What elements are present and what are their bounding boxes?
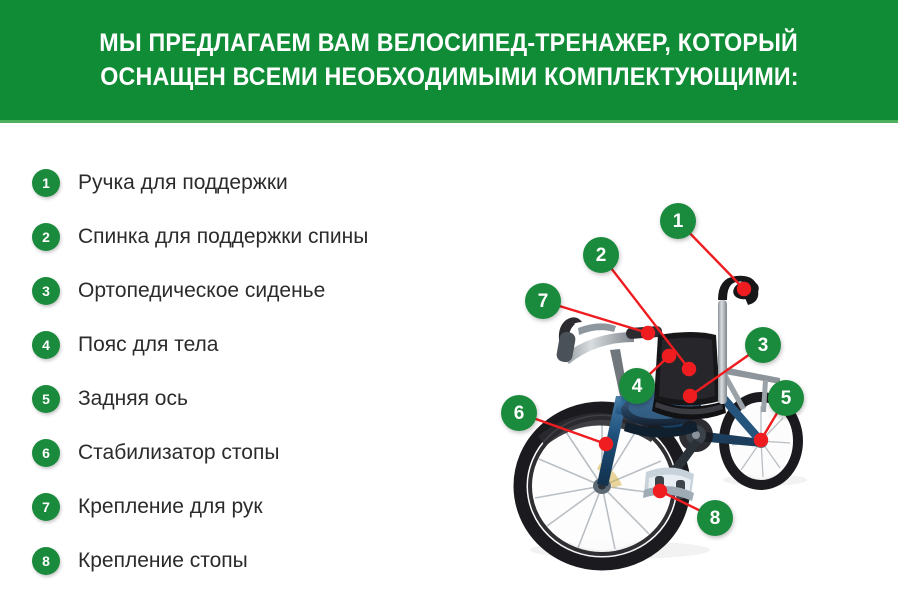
list-item: 3 Ортопедическое сиденье	[32, 264, 452, 318]
feature-badge-2: 2	[32, 223, 60, 251]
feature-badge-4: 4	[32, 331, 60, 359]
list-item: 6 Стабилизатор стопы	[32, 426, 452, 480]
diagram-marker-3[interactable]: 3	[745, 327, 781, 363]
feature-label-8: Крепление стопы	[78, 549, 248, 573]
header-text-block: МЫ ПРЕДЛАГАЕМ ВАМ ВЕЛОСИПЕД-ТРЕНАЖЕР, КО…	[0, 0, 898, 120]
diagram-marker-6[interactable]: 6	[501, 395, 537, 431]
header-line-1: МЫ ПРЕДЛАГАЕМ ВАМ ВЕЛОСИПЕД-ТРЕНАЖЕР, КО…	[100, 27, 799, 59]
feature-label-1: Ручка для поддержки	[78, 171, 288, 195]
list-item: 8 Крепление стопы	[32, 534, 452, 588]
bicycle-diagram: 1 2 3 4 5 6 7 8	[450, 150, 898, 590]
feature-badge-1: 1	[32, 169, 60, 197]
diagram-marker-1[interactable]: 1	[660, 203, 696, 239]
diagram-marker-8[interactable]: 8	[697, 500, 733, 536]
feature-label-3: Ортопедическое сиденье	[78, 279, 325, 303]
feature-label-5: Задняя ось	[78, 387, 188, 411]
list-item: 4 Пояс для тела	[32, 318, 452, 372]
list-item: 1 Ручка для поддержки	[32, 156, 452, 210]
feature-badge-8: 8	[32, 547, 60, 575]
header-line-2: ОСНАЩЕН ВСЕМИ НЕОБХОДИМЫМИ КОМПЛЕКТУЮЩИМ…	[100, 61, 798, 93]
feature-badge-5: 5	[32, 385, 60, 413]
feature-label-7: Крепление для рук	[78, 495, 263, 519]
list-item: 2 Спинка для поддержки спины	[32, 210, 452, 264]
diagram-marker-5[interactable]: 5	[768, 380, 804, 416]
feature-label-2: Спинка для поддержки спины	[78, 225, 368, 249]
diagram-marker-7[interactable]: 7	[525, 283, 561, 319]
header-banner-underline	[0, 120, 898, 123]
diagram-marker-4[interactable]: 4	[619, 368, 655, 404]
list-item: 5 Задняя ось	[32, 372, 452, 426]
feature-badge-7: 7	[32, 493, 60, 521]
feature-label-4: Пояс для тела	[78, 333, 219, 357]
feature-badge-6: 6	[32, 439, 60, 467]
feature-label-6: Стабилизатор стопы	[78, 441, 279, 465]
diagram-marker-2[interactable]: 2	[583, 237, 619, 273]
feature-list: 1 Ручка для поддержки 2 Спинка для подде…	[32, 156, 452, 588]
feature-badge-3: 3	[32, 277, 60, 305]
list-item: 7 Крепление для рук	[32, 480, 452, 534]
